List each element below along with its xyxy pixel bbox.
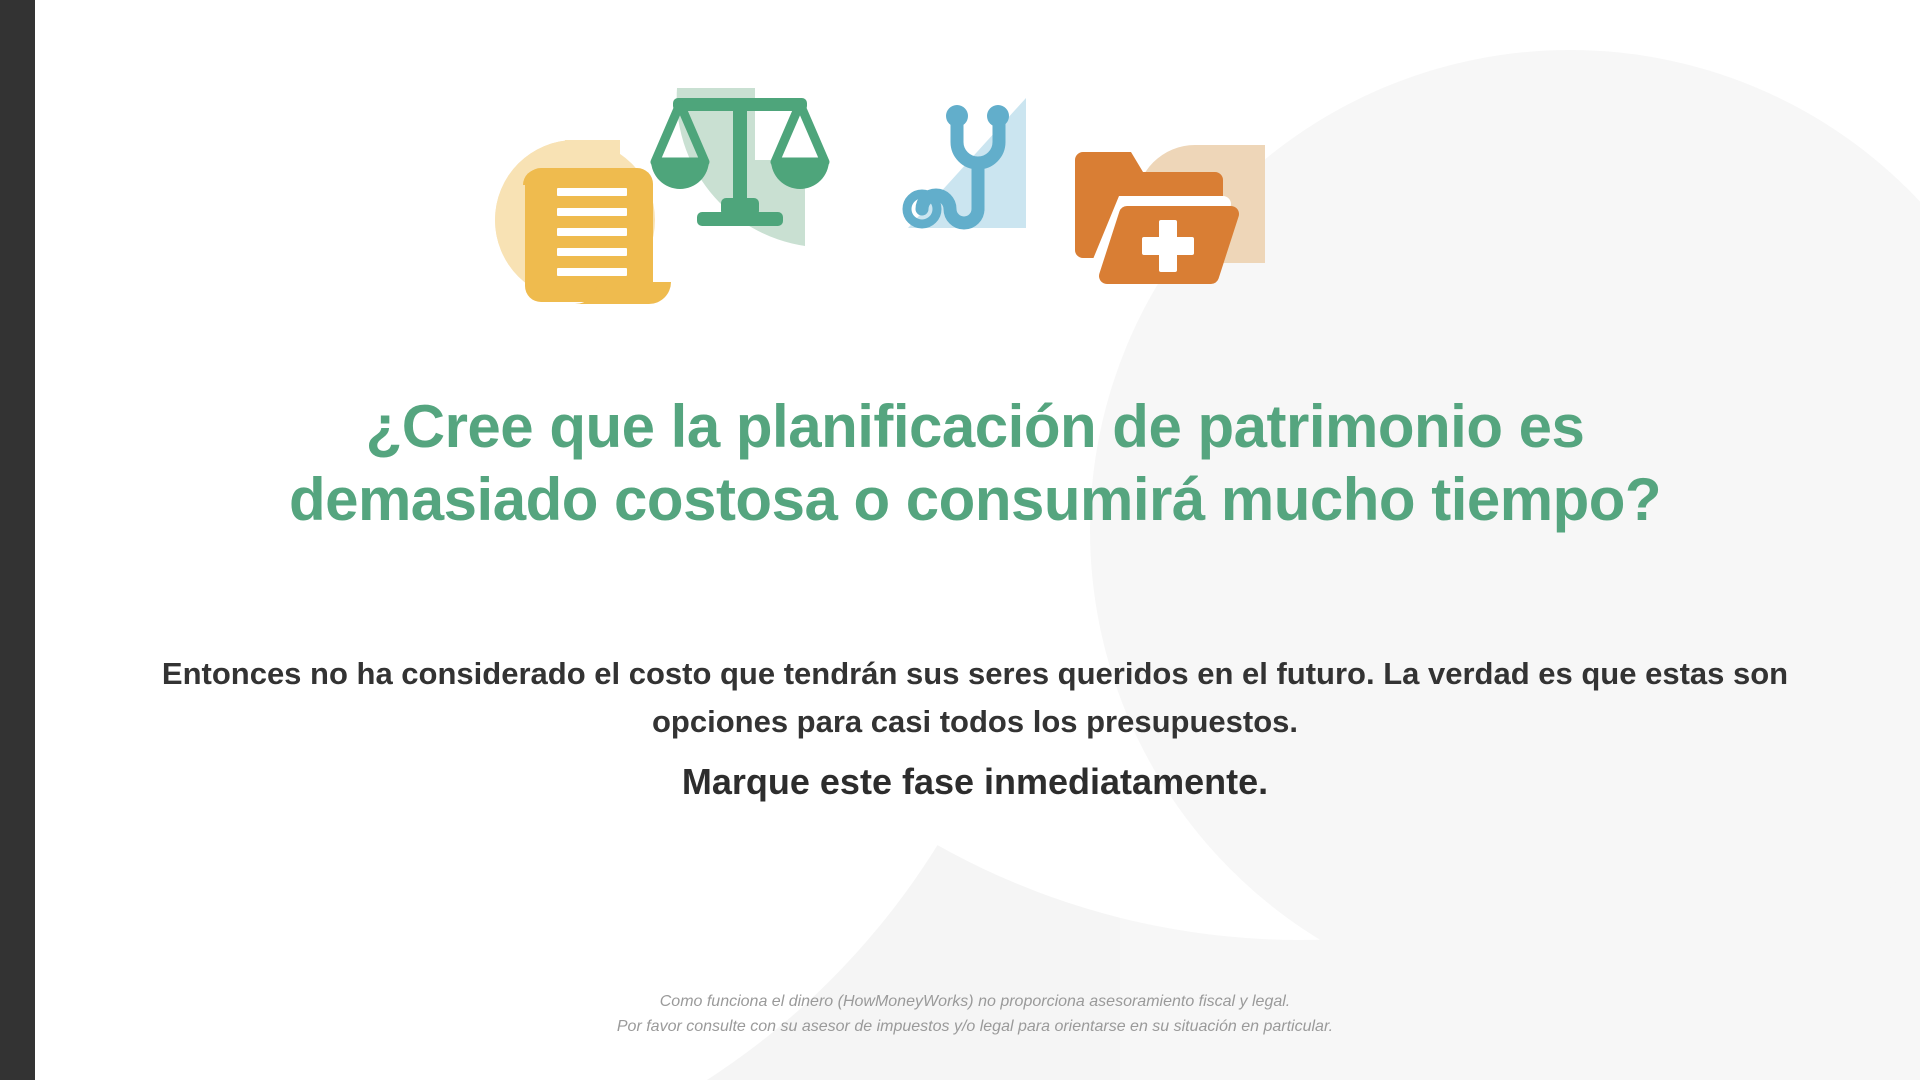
disclaimer-line-2: Por favor consulte con su asesor de impu… [125, 1015, 1825, 1040]
body-emphasis: Marque este fase inmediatamente. [125, 754, 1825, 810]
slide-canvas: ¿Cree que la planificación de patrimonio… [0, 0, 1920, 1080]
disclaimer-line-1: Como funciona el dinero (HowMoneyWorks) … [125, 990, 1825, 1015]
headline-line-1: ¿Cree que la planificación de patrimonio… [75, 390, 1875, 463]
disclaimer: Como funciona el dinero (HowMoneyWorks) … [125, 990, 1825, 1040]
page-title: ¿Cree que la planificación de patrimonio… [75, 390, 1875, 536]
body-line-1: Entonces no ha considerado el costo que … [162, 656, 1419, 691]
headline-line-2: demasiado costosa o consumirá mucho tiem… [75, 463, 1875, 536]
left-rail [0, 0, 35, 1080]
body-copy: Entonces no ha considerado el costo que … [125, 650, 1825, 810]
slide-content: ¿Cree que la planificación de patrimonio… [35, 0, 1920, 1080]
